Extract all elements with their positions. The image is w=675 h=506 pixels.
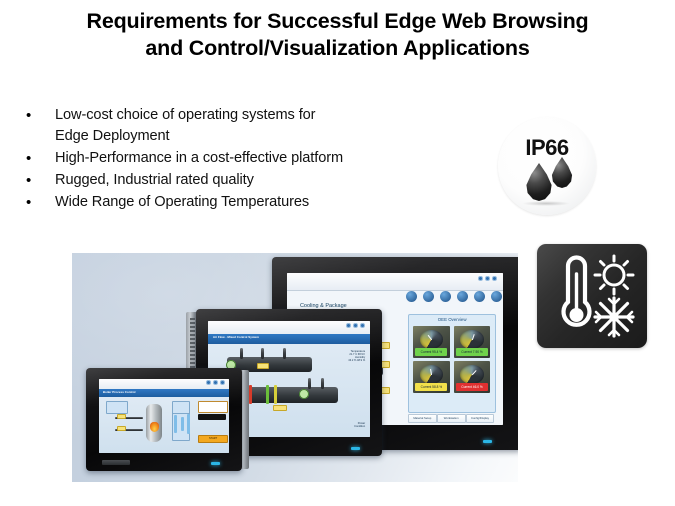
power-led-indicator <box>211 462 220 465</box>
sun-icon <box>595 256 633 294</box>
app-canvas: START <box>99 397 229 453</box>
hmi-application-small: Boiler Process Control <box>99 379 229 453</box>
gauge-widget[interactable]: Current 58.8 % <box>413 361 449 393</box>
pipe-3 <box>283 348 286 359</box>
app-window-buttons[interactable] <box>346 323 365 328</box>
page-title-line-1: Requirements for Successful Edge Web Bro… <box>0 8 675 35</box>
gauge-status-label: Current 7.90 % <box>456 348 488 356</box>
app-button-3-icon[interactable] <box>492 276 497 281</box>
oee-panel-title: OEE Overview <box>409 317 495 322</box>
hmi-control-button-row[interactable]: Material Setup Workstation Config/Displa… <box>408 414 494 423</box>
nav-button-3-icon[interactable] <box>440 291 451 302</box>
bullet-text: Wide Range of Operating Temperatures <box>55 192 309 213</box>
app-toolbar[interactable] <box>208 321 370 335</box>
requirements-bullet-list: • Low-cost choice of operating systems f… <box>24 105 474 214</box>
app-button-3-icon[interactable] <box>220 380 225 385</box>
damper-yellow <box>274 385 277 404</box>
bullet-marker-icon: • <box>24 148 55 169</box>
temperature-badge-glyphs <box>537 244 647 348</box>
pipe-4 <box>308 378 311 389</box>
bullet-text-line-1: Low-cost choice of operating systems for <box>55 107 315 123</box>
value-tag-2 <box>117 426 126 431</box>
bar-3 <box>187 414 190 434</box>
gauge-status-label: Current 58.8 % <box>415 383 447 391</box>
app-button-3-icon[interactable] <box>360 323 365 328</box>
bullet-text-line-2: Edge Deployment <box>55 126 315 147</box>
gauge-dial <box>420 330 443 349</box>
control-button[interactable]: Config/Display <box>466 414 495 423</box>
nav-button-1-icon[interactable] <box>406 291 417 302</box>
gauge-widget[interactable]: Current 7.90 % <box>454 326 490 358</box>
digital-readout <box>198 414 227 421</box>
value-tag-1 <box>257 363 269 369</box>
gauge-needle <box>428 335 432 340</box>
app-window-buttons[interactable] <box>206 380 225 385</box>
gauge-dial <box>460 330 483 349</box>
list-item: • Wide Range of Operating Temperatures <box>24 192 474 213</box>
value-tag-2 <box>273 405 287 411</box>
value-tag-1 <box>117 414 126 419</box>
gauge-status-label: Current 95.4 % <box>415 348 447 356</box>
power-led-indicator <box>351 447 360 450</box>
pipe-1 <box>240 348 243 359</box>
ip66-rating-badge: IP66 <box>498 117 596 215</box>
gauge-needle <box>472 370 476 375</box>
nav-button-4-icon[interactable] <box>457 291 468 302</box>
app-blue-header-bar: Air Flow - Mixed Control System <box>208 334 370 344</box>
hmi-nav-button-group[interactable] <box>406 291 502 302</box>
gauge-dial <box>420 365 443 384</box>
industrial-panel-pc-family-photo: Cooling & Package <box>72 253 518 482</box>
gauge-widget[interactable]: Current 46.0 % <box>454 361 490 393</box>
list-item: • High-Performance in a cost-effective p… <box>24 148 474 169</box>
hmi-screen-title: Air Flow - Mixed Control System <box>213 335 259 339</box>
list-item: • Low-cost choice of operating systems f… <box>24 105 474 147</box>
bullet-marker-icon: • <box>24 105 55 126</box>
water-droplet-small-icon <box>550 157 574 188</box>
bullet-text: Low-cost choice of operating systems for… <box>55 105 315 147</box>
fan-icon-3 <box>299 389 309 399</box>
power-led-indicator <box>483 440 492 443</box>
hmi-screen-title: Boiler Process Control <box>103 390 136 394</box>
readout-block-bottom: Power Condition <box>313 422 365 428</box>
gauge-widget[interactable]: Current 95.4 % <box>413 326 449 358</box>
readout-label: Condition <box>313 425 365 428</box>
app-button-1-icon[interactable] <box>206 380 211 385</box>
keypad-grid <box>198 423 227 433</box>
list-item: • Rugged, Industrial rated quality <box>24 170 474 191</box>
snowflake-icon <box>595 298 633 336</box>
bullet-marker-icon: • <box>24 170 55 191</box>
temperature-range-badge <box>537 244 647 348</box>
brand-nameplate <box>102 460 130 465</box>
arc-gauge <box>198 401 229 413</box>
bullet-marker-icon: • <box>24 192 55 213</box>
app-button-2-icon[interactable] <box>353 323 358 328</box>
app-button-1-icon[interactable] <box>478 276 483 281</box>
page-title: Requirements for Successful Edge Web Bro… <box>0 8 675 62</box>
damper-green-1 <box>266 385 269 404</box>
control-button[interactable]: Workstation <box>437 414 466 423</box>
bar-1 <box>174 415 177 433</box>
burner-flame-icon <box>150 422 159 432</box>
app-button-2-icon[interactable] <box>213 380 218 385</box>
gauge-status-label: Current 46.0 % <box>456 383 488 391</box>
control-button[interactable]: Material Setup <box>408 414 437 423</box>
app-window-buttons[interactable] <box>478 276 497 281</box>
small-panel-pc: Boiler Process Control <box>86 368 242 471</box>
gauge-needle <box>472 334 475 340</box>
app-button-2-icon[interactable] <box>485 276 490 281</box>
app-blue-header-bar: Boiler Process Control <box>99 389 229 397</box>
bullet-text: High-Performance in a cost-effective pla… <box>55 148 343 169</box>
bar-2 <box>181 417 184 431</box>
nav-button-6-icon[interactable] <box>491 291 502 302</box>
oee-overview-panel: OEE Overview Current 95.4 % Current 7.90… <box>408 314 496 413</box>
small-panel-pc-screen[interactable]: Boiler Process Control <box>99 379 229 453</box>
thermometer-bulb <box>570 308 584 322</box>
pipe-5 <box>321 378 324 389</box>
gauge-needle <box>430 369 432 375</box>
readout-value: 43.2 % 48.9 % <box>313 359 365 362</box>
readout-block-top: Temperature 21.7 C 68.9 F Humidity 43.2 … <box>313 350 365 362</box>
water-droplet-icon <box>524 163 554 201</box>
alarm-button[interactable]: START <box>198 435 229 443</box>
pipe-2 <box>261 348 264 359</box>
ip66-label: IP66 <box>498 135 596 161</box>
bullet-text: Rugged, Industrial rated quality <box>55 170 254 191</box>
droplet-shadow <box>522 201 570 206</box>
nav-button-5-icon[interactable] <box>474 291 485 302</box>
app-toolbar[interactable] <box>287 273 503 291</box>
app-button-1-icon[interactable] <box>346 323 351 328</box>
info-box-left <box>106 401 128 414</box>
nav-button-2-icon[interactable] <box>423 291 434 302</box>
gauge-dial <box>460 365 483 384</box>
page-title-line-2: and Control/Visualization Applications <box>0 35 675 62</box>
